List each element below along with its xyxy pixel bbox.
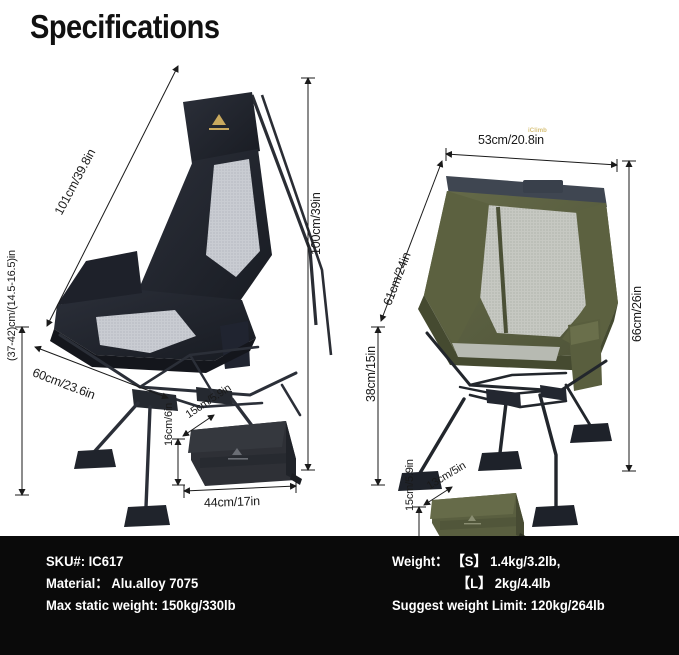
- dim-chair-small-seat-height: 38cm/15in: [364, 346, 378, 402]
- dim-chair-large-seat-height: (37-42)cm/(14.5-16.5)in: [6, 250, 18, 361]
- dim-chair-large-seat-depth: 60cm/23.6in: [30, 365, 97, 402]
- dim-bag-large-depth: 15cm/5.9in: [184, 382, 234, 421]
- dim-bag-small-height: 15cm/5.9in: [404, 459, 416, 511]
- spec-suggest-weight-limit: Suggest weight Limit: 120kg/264lb: [392, 594, 605, 616]
- spec-material: Material： Alu.alloy 7075: [46, 572, 236, 594]
- chair-small-body: [418, 176, 618, 391]
- spec-weight-l: 【L】 2kg/4.4lb: [392, 572, 605, 594]
- specifications-bar: SKU#: IC617 Material： Alu.alloy 7075 Max…: [0, 536, 679, 655]
- spec-weight-s: Weight： 【S】 1.4kg/3.2lb,: [392, 550, 605, 572]
- page-title: Specifications: [30, 8, 220, 46]
- chair-large-frame: [60, 335, 300, 507]
- chair-large-artwork: [0, 55, 679, 535]
- product-illustration-stage: 101cm/39.8in 60cm/23.6in 100cm/39in (37-…: [0, 55, 679, 535]
- spec-max-static-weight: Max static weight: 150kg/330lb: [46, 594, 236, 616]
- chair-large-carry-bag: [188, 421, 302, 486]
- spec-column-left: SKU#: IC617 Material： Alu.alloy 7075 Max…: [46, 550, 250, 616]
- chair-small-feet: [398, 423, 612, 527]
- spec-sku: SKU#: IC617: [46, 550, 236, 572]
- dim-chair-small-backrest-width: 53cm/20.8in: [478, 133, 544, 147]
- dim-bag-large-length: 44cm/17in: [204, 494, 260, 510]
- dim-chair-large-backrest-height: 101cm/39.8in: [52, 147, 98, 218]
- brand-mountain-icon: [209, 114, 229, 130]
- dim-bag-small-depth: 13cm/5in: [425, 460, 468, 492]
- chair-large-body: [50, 92, 331, 373]
- dim-chair-small-overall-height: 66cm/26in: [630, 286, 644, 342]
- dim-chair-large-overall-height: 100cm/39in: [309, 192, 323, 255]
- chair-large-feet: [74, 445, 290, 527]
- brand-logo-iclimb: iClimb: [528, 128, 547, 134]
- dim-bag-large-height: 16cm/6in: [163, 403, 175, 446]
- spec-column-right: Weight： 【S】 1.4kg/3.2lb, 【L】 2kg/4.4lb S…: [392, 550, 621, 616]
- dim-chair-small-backrest-height: 61cm/24in: [380, 250, 413, 307]
